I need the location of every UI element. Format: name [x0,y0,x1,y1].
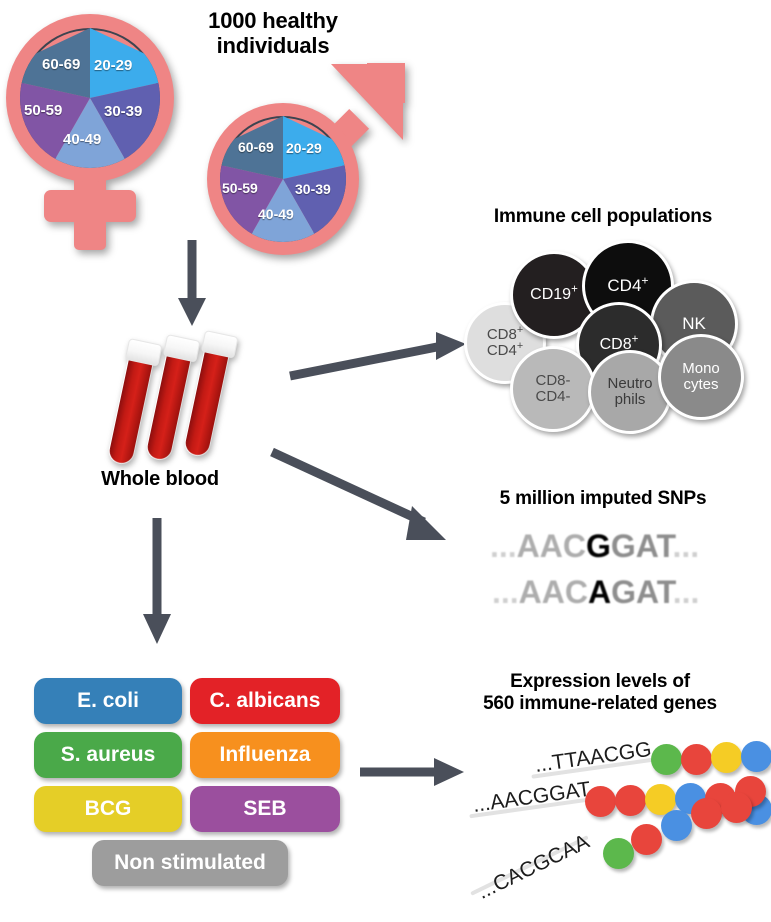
rna-dot [661,810,692,841]
strand-sequence: ...CACGCAA [474,830,594,905]
stimulus-e-coli[interactable]: E. coli [34,678,182,724]
female-symbol: 20-29 30-39 40-49 50-59 60-69 [6,14,186,254]
immune-cell-cd8neg-cd4neg: CD8-CD4- [510,346,596,432]
rna-dot [585,786,616,817]
male-age-pie [220,116,346,242]
cell-label: Monocytes [682,361,720,392]
blood-tubes [115,332,265,482]
snp-prefix: ... [492,574,519,610]
snp-variant: G [586,528,611,564]
cell-label: CD8+CD4+ [487,327,523,358]
cell-label: CD4+ [607,277,648,295]
stimulus-label: S. aureus [61,743,156,767]
pie-label-30-39: 30-39 [295,181,331,197]
pie-label-50-59: 50-59 [222,180,258,196]
section-title-snp: 5 million imputed SNPs [448,488,758,510]
rna-dot [631,824,662,855]
snp-right: GAT [611,528,673,564]
stimulus-s-aureus[interactable]: S. aureus [34,732,182,778]
pie-label-40-49: 40-49 [258,206,294,222]
stimulus-label: BCG [85,797,132,821]
snp-variant: A [588,574,611,610]
arrow-blood-to-stimuli [137,518,177,648]
pie-label-60-69: 60-69 [238,139,274,155]
snp-right: GAT [611,574,673,610]
snp-suffix: ... [673,528,700,564]
stimulus-seb[interactable]: SEB [190,786,340,832]
rna-dot [691,798,722,829]
arrow-stimuli-to-expression [360,752,470,792]
stimulus-label: Non stimulated [114,851,266,875]
rna-dot [721,792,752,823]
stimulus-c-albicans[interactable]: C. albicans [190,678,340,724]
rna-strands: ...TTAACGG ...AACGGAT ...CACGCAA [455,740,771,920]
pie-label-40-49: 40-49 [63,131,101,148]
snp-suffix: ... [673,574,700,610]
immune-cell-cluster: CD8+CD4+ CD19+ CD4+ NK CD8+ CD8-CD4- Neu… [452,240,762,430]
female-stem-horizontal [44,190,136,222]
snp-left: AAC [519,574,588,610]
rna-dot [681,744,712,775]
snp-sequences: ...AACGGAT... ...AACAGAT... [490,528,740,628]
cell-label: CD8-CD4- [535,373,570,404]
rna-strand: ...CACGCAA [465,836,765,906]
rna-dot [651,744,682,775]
stimulus-non-stimulated[interactable]: Non stimulated [92,840,288,886]
snp-sequence-row: ...AACGGAT... [490,528,699,565]
expression-title-line1: Expression levels of [440,671,760,693]
stimulus-label: Influenza [219,743,310,767]
pie-label-30-39: 30-39 [104,103,142,120]
snp-prefix: ... [490,528,517,564]
whole-blood-label: Whole blood [60,468,260,491]
stimulus-label: C. albicans [210,689,321,713]
cell-label: CD19+ [530,287,578,304]
figure-canvas: 1000 healthy individuals 20-29 30-39 40-… [0,0,771,922]
rna-dot [711,742,742,773]
rna-dot [615,785,646,816]
expression-title-line2: 560 immune-related genes [440,693,760,715]
cell-label: Neutrophils [607,376,652,407]
male-symbol: 20-29 30-39 40-49 50-59 60-69 [207,75,417,255]
stimulus-influenza[interactable]: Influenza [190,732,340,778]
stimulus-label: SEB [243,797,286,821]
pie-label-20-29: 20-29 [286,140,322,156]
immune-cell-monocytes: Monocytes [658,334,744,420]
arrow-blood-to-snp [272,452,457,547]
arrow-cohort-to-blood [172,240,212,330]
pie-label-60-69: 60-69 [42,56,80,73]
arrow-blood-to-immune [290,330,470,380]
stimulus-label: E. coli [77,689,139,713]
rna-dot [603,838,634,869]
strand-sequence: ...TTAACGG [533,738,653,778]
page-title: 1000 healthy individuals [168,8,378,59]
pie-label-50-59: 50-59 [24,102,62,119]
section-title-immune: Immune cell populations [448,206,758,228]
snp-left: AAC [517,528,586,564]
strand-sequence: ...AACGGAT [471,778,592,818]
section-title-expression: Expression levels of 560 immune-related … [440,671,760,715]
stimulus-bcg[interactable]: BCG [34,786,182,832]
snp-sequence-row: ...AACAGAT... [492,574,699,611]
pie-label-20-29: 20-29 [94,57,132,74]
rna-dot [741,741,771,772]
cell-label: NK [682,315,706,333]
stimuli-panel: E. coli C. albicans S. aureus Influenza … [34,678,344,898]
